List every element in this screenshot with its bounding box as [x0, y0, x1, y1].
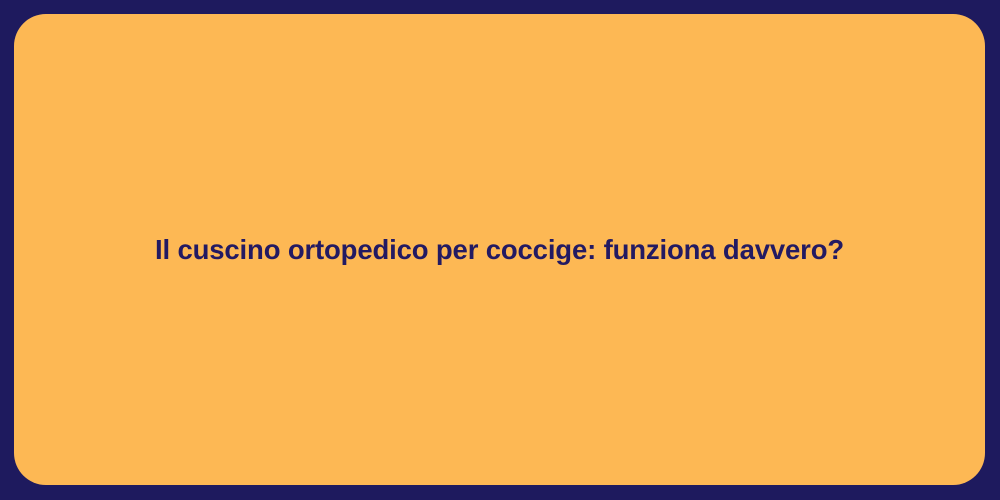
banner-content: Il cuscino ortopedico per coccige: funzi…: [14, 231, 985, 268]
banner-card: Il cuscino ortopedico per coccige: funzi…: [14, 14, 985, 485]
banner-frame: Il cuscino ortopedico per coccige: funzi…: [0, 0, 1000, 500]
banner-headline: Il cuscino ortopedico per coccige: funzi…: [155, 231, 844, 268]
